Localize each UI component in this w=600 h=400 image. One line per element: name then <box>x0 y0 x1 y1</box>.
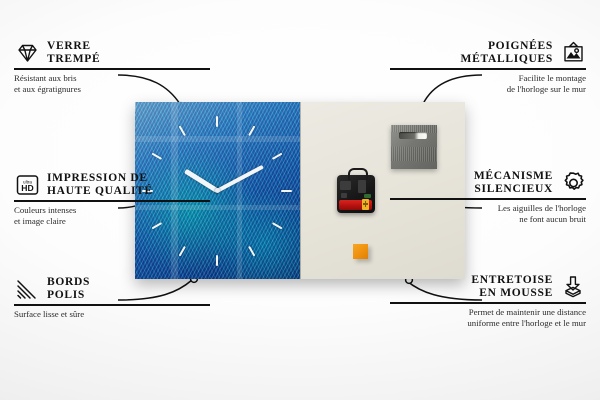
clock-tick <box>248 245 255 256</box>
feature-subtitle: Permet de maintenir une distance uniform… <box>390 307 586 329</box>
feature-title: VERRE TREMPÉ <box>47 40 100 65</box>
divider <box>390 68 586 70</box>
polished-edge-lines-icon <box>14 277 40 301</box>
mechanism-hanging-loop <box>348 168 368 180</box>
feature-subtitle: Couleurs intenses et image claire <box>14 205 210 227</box>
pattern-band <box>237 102 242 279</box>
pattern-band <box>135 136 300 142</box>
diamond-icon <box>14 41 40 65</box>
ultra-hd-badge-icon: ultra HD <box>14 173 40 197</box>
feature-title: ENTRETOISE EN MOUSSE <box>471 274 553 299</box>
clock-tick <box>216 116 218 127</box>
clock-mechanism-box <box>337 175 375 213</box>
feature-header: VERRE TREMPÉ <box>14 40 210 65</box>
feature-bords-polis: BORDS POLIS Surface lisse et sûre <box>14 276 210 320</box>
divider <box>14 68 210 70</box>
infographic-canvas: VERRE TREMPÉ Résistant aux bris et aux é… <box>0 0 600 400</box>
divider <box>390 302 586 304</box>
battery-plus-terminal <box>362 199 369 210</box>
divider <box>14 200 210 202</box>
foam-spacer <box>353 244 368 259</box>
gear-icon <box>560 171 586 195</box>
feature-mecanisme-silencieux: MÉCANISME SILENCIEUX Les aiguilles de l'… <box>390 170 586 225</box>
feature-title: MÉCANISME SILENCIEUX <box>474 170 553 195</box>
feature-header: ultra HD IMPRESSION DE HAUTE QUALITÉ <box>14 172 210 197</box>
arrow-onto-foam-pad-icon <box>560 275 586 299</box>
feature-header: POIGNÉES MÉTALLIQUES <box>390 40 586 65</box>
clock-center-cap <box>215 188 220 193</box>
feature-poignees-metalliques: POIGNÉES MÉTALLIQUES Facilite le montage… <box>390 40 586 95</box>
framed-picture-hanging-icon <box>560 41 586 65</box>
clock-tick <box>272 152 283 159</box>
mechanism-detail <box>358 180 366 193</box>
feature-header: ENTRETOISE EN MOUSSE <box>390 274 586 299</box>
feature-title: BORDS POLIS <box>47 276 90 301</box>
svg-text:HD: HD <box>21 183 33 193</box>
feature-subtitle: Surface lisse et sûre <box>14 309 210 320</box>
divider <box>390 198 586 200</box>
feature-header: BORDS POLIS <box>14 276 210 301</box>
clock-tick <box>179 245 186 256</box>
hanger-slot <box>399 132 427 139</box>
feature-subtitle: Facilite le montage de l'horloge sur le … <box>390 73 586 95</box>
feature-title: IMPRESSION DE HAUTE QUALITÉ <box>47 172 153 197</box>
mechanism-detail <box>364 194 371 198</box>
clock-tick <box>179 125 186 136</box>
feature-subtitle: Résistant aux bris et aux égratignures <box>14 73 210 95</box>
metal-hanger-plate <box>391 125 437 169</box>
feature-verre-trempe: VERRE TREMPÉ Résistant aux bris et aux é… <box>14 40 210 95</box>
divider <box>14 304 210 306</box>
battery <box>339 200 372 210</box>
clock-tick <box>152 152 163 159</box>
mechanism-detail <box>340 181 351 190</box>
clock-tick <box>216 255 218 266</box>
clock-tick <box>272 222 283 229</box>
mechanism-detail <box>341 193 347 198</box>
feature-header: MÉCANISME SILENCIEUX <box>390 170 586 195</box>
clock-tick <box>281 190 292 192</box>
feature-entretoise-en-mousse: ENTRETOISE EN MOUSSE Permet de maintenir… <box>390 274 586 329</box>
feature-title: POIGNÉES MÉTALLIQUES <box>461 40 553 65</box>
feature-subtitle: Les aiguilles de l'horloge ne font aucun… <box>390 203 586 225</box>
clock-second-hand <box>135 102 137 112</box>
clock-tick <box>248 125 255 136</box>
feature-impression-haute-qualite: ultra HD IMPRESSION DE HAUTE QUALITÉ Cou… <box>14 172 210 227</box>
